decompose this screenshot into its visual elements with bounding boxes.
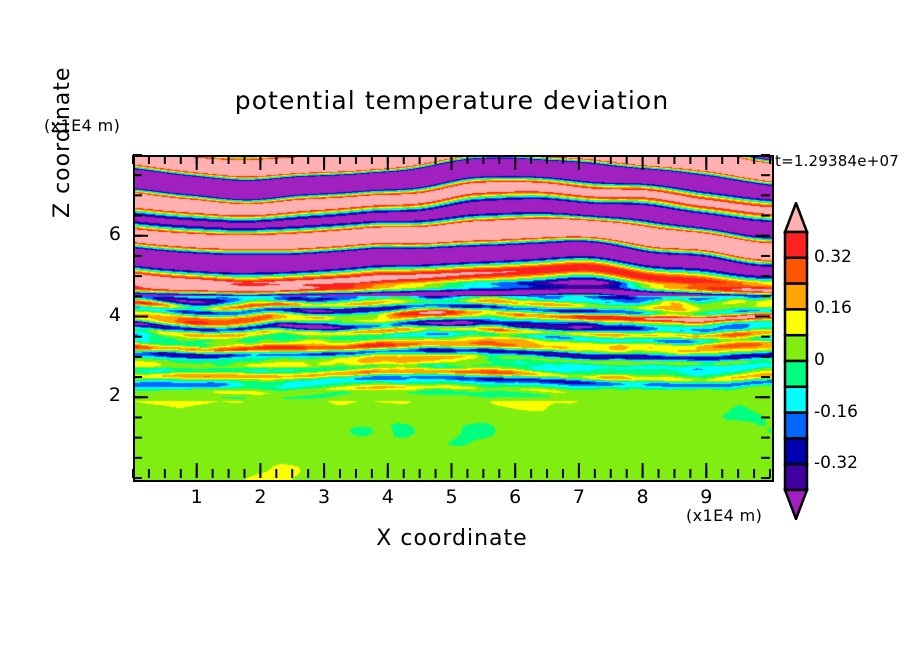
contour-plot-panel: [133, 155, 774, 482]
x-tick-label: 2: [240, 486, 280, 508]
figure-root: potential temperature deviation (x1E4 m)…: [0, 0, 904, 654]
x-tick-label: 9: [686, 486, 726, 508]
x-axis-unit-label: (x1E4 m): [686, 506, 762, 525]
time-annotation: t=1.29384e+07: [775, 152, 899, 170]
colorbar-tick-label: 0.16: [814, 298, 894, 318]
x-tick-label: 3: [304, 486, 344, 508]
colorbar-tick-label: 0.32: [814, 247, 894, 267]
x-axis-title: X coordinate: [0, 526, 904, 551]
x-tick-label: 5: [432, 486, 472, 508]
y-tick-label: 2: [81, 384, 121, 406]
colorbar-tick-label: 0: [814, 350, 894, 370]
z-axis-title: Z coordinate: [50, 18, 75, 218]
colorbar-swatches: [783, 202, 809, 520]
x-tick-label: 6: [495, 486, 535, 508]
y-tick-label: 4: [81, 304, 121, 326]
x-tick-label: 8: [623, 486, 663, 508]
colorbar-tick-label: -0.32: [814, 453, 894, 473]
contour-field-canvas: [135, 157, 772, 480]
page-title: potential temperature deviation: [0, 86, 904, 115]
x-tick-label: 4: [368, 486, 408, 508]
y-tick-label: 6: [81, 223, 121, 245]
colorbar-tick-label: -0.16: [814, 402, 894, 422]
colorbar: [783, 202, 809, 520]
x-tick-label: 1: [177, 486, 217, 508]
x-tick-label: 7: [559, 486, 599, 508]
